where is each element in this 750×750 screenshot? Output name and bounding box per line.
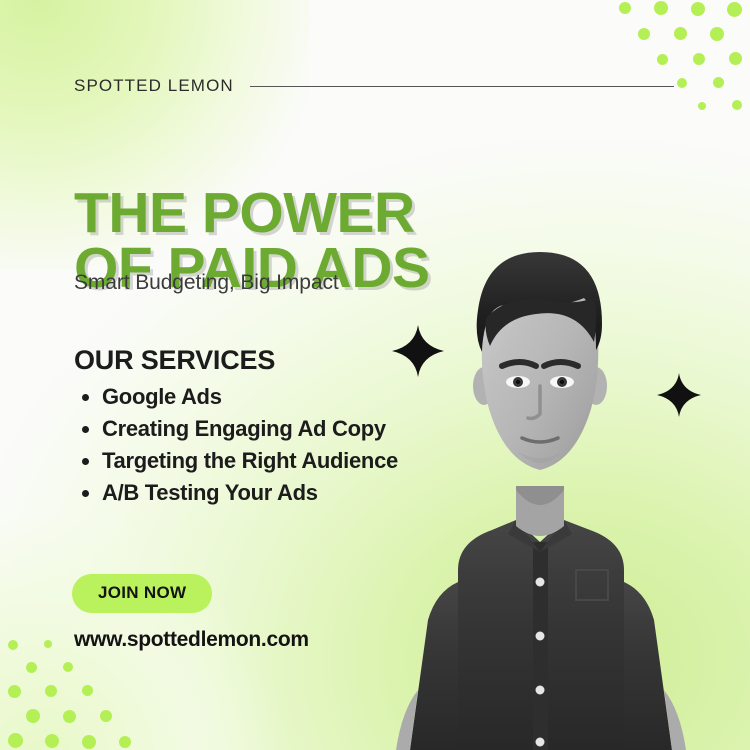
join-now-button[interactable]: JOIN NOW bbox=[72, 574, 212, 613]
services-list: Google Ads Creating Engaging Ad Copy Tar… bbox=[74, 382, 454, 510]
brand-row: SPOTTED LEMON bbox=[74, 76, 674, 96]
subtitle: Smart Budgeting, Big Impact bbox=[74, 271, 339, 295]
list-item: Targeting the Right Audience bbox=[74, 446, 454, 475]
list-item: A/B Testing Your Ads bbox=[74, 478, 454, 507]
poster-canvas: SPOTTED LEMON THE POWER OF PAID ADS Smar… bbox=[0, 0, 750, 750]
brand-name: SPOTTED LEMON bbox=[74, 76, 234, 96]
list-item: Google Ads bbox=[74, 382, 454, 411]
services-heading: OUR SERVICES bbox=[74, 345, 275, 376]
brand-divider bbox=[250, 86, 674, 87]
poster-content: SPOTTED LEMON THE POWER OF PAID ADS Smar… bbox=[0, 0, 750, 750]
list-item: Creating Engaging Ad Copy bbox=[74, 414, 454, 443]
website-url[interactable]: www.spottedlemon.com bbox=[74, 628, 309, 652]
